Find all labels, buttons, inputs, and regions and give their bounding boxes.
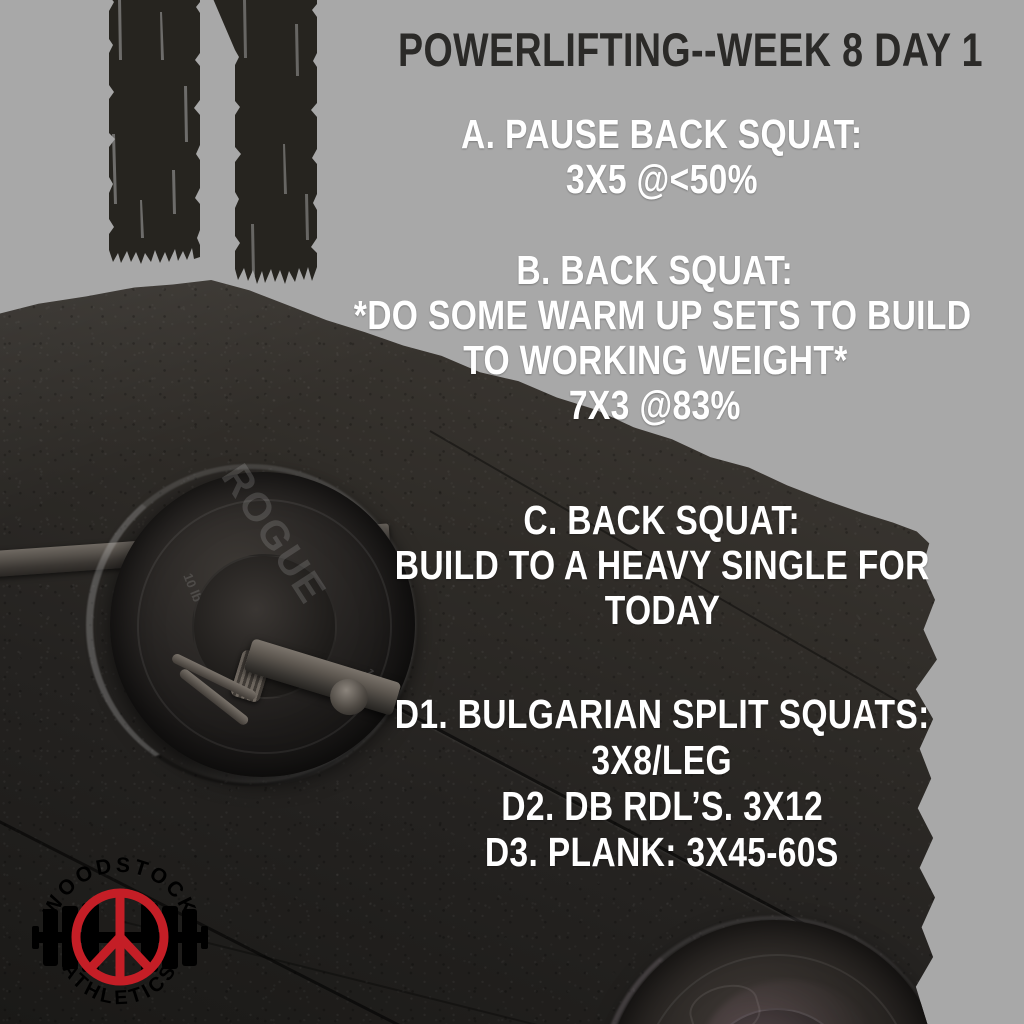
workout-block-b: B. BACK SQUAT: *DO SOME WARM UP SETS TO … bbox=[286, 248, 1024, 428]
woodstock-athletics-logo: WOODSTOCK ATHLETICS bbox=[22, 840, 218, 1010]
workout-line: BUILD TO A HEAVY SINGLE FOR bbox=[300, 543, 1024, 588]
workout-line: 3X8/LEG bbox=[300, 738, 1024, 784]
workout-line: TODAY bbox=[300, 588, 1024, 633]
workout-line: A. PAUSE BACK SQUAT: bbox=[300, 112, 1024, 157]
workout-block-a: A. PAUSE BACK SQUAT: 3X5 @<50% bbox=[300, 112, 1024, 202]
workout-line: B. BACK SQUAT: bbox=[286, 248, 1024, 293]
workout-line: D3. PLANK: 3X45-60S bbox=[300, 830, 1024, 876]
workout-block-c: C. BACK SQUAT: BUILD TO A HEAVY SINGLE F… bbox=[300, 498, 1024, 633]
workout-block-d: D1. BULGARIAN SPLIT SQUATS: 3X8/LEG D2. … bbox=[300, 692, 1024, 876]
brush-stroke-left bbox=[88, 0, 206, 286]
workout-line: TO WORKING WEIGHT* bbox=[286, 338, 1024, 383]
workout-line: C. BACK SQUAT: bbox=[300, 498, 1024, 543]
workout-line: 7X3 @83% bbox=[286, 383, 1024, 428]
page-title: POWERLIFTING--WEEK 8 DAY 1 bbox=[398, 26, 942, 74]
workout-line: D1. BULGARIAN SPLIT SQUATS: bbox=[300, 692, 1024, 738]
workout-line: *DO SOME WARM UP SETS TO BUILD bbox=[286, 293, 1024, 338]
workout-line: D2. DB RDL’S. 3X12 bbox=[300, 784, 1024, 830]
workout-graphic: ROGUE 10 lb 10 lb POWERLIFTING--WEEK 8 D… bbox=[0, 0, 1024, 1024]
workout-line: 3X5 @<50% bbox=[300, 157, 1024, 202]
